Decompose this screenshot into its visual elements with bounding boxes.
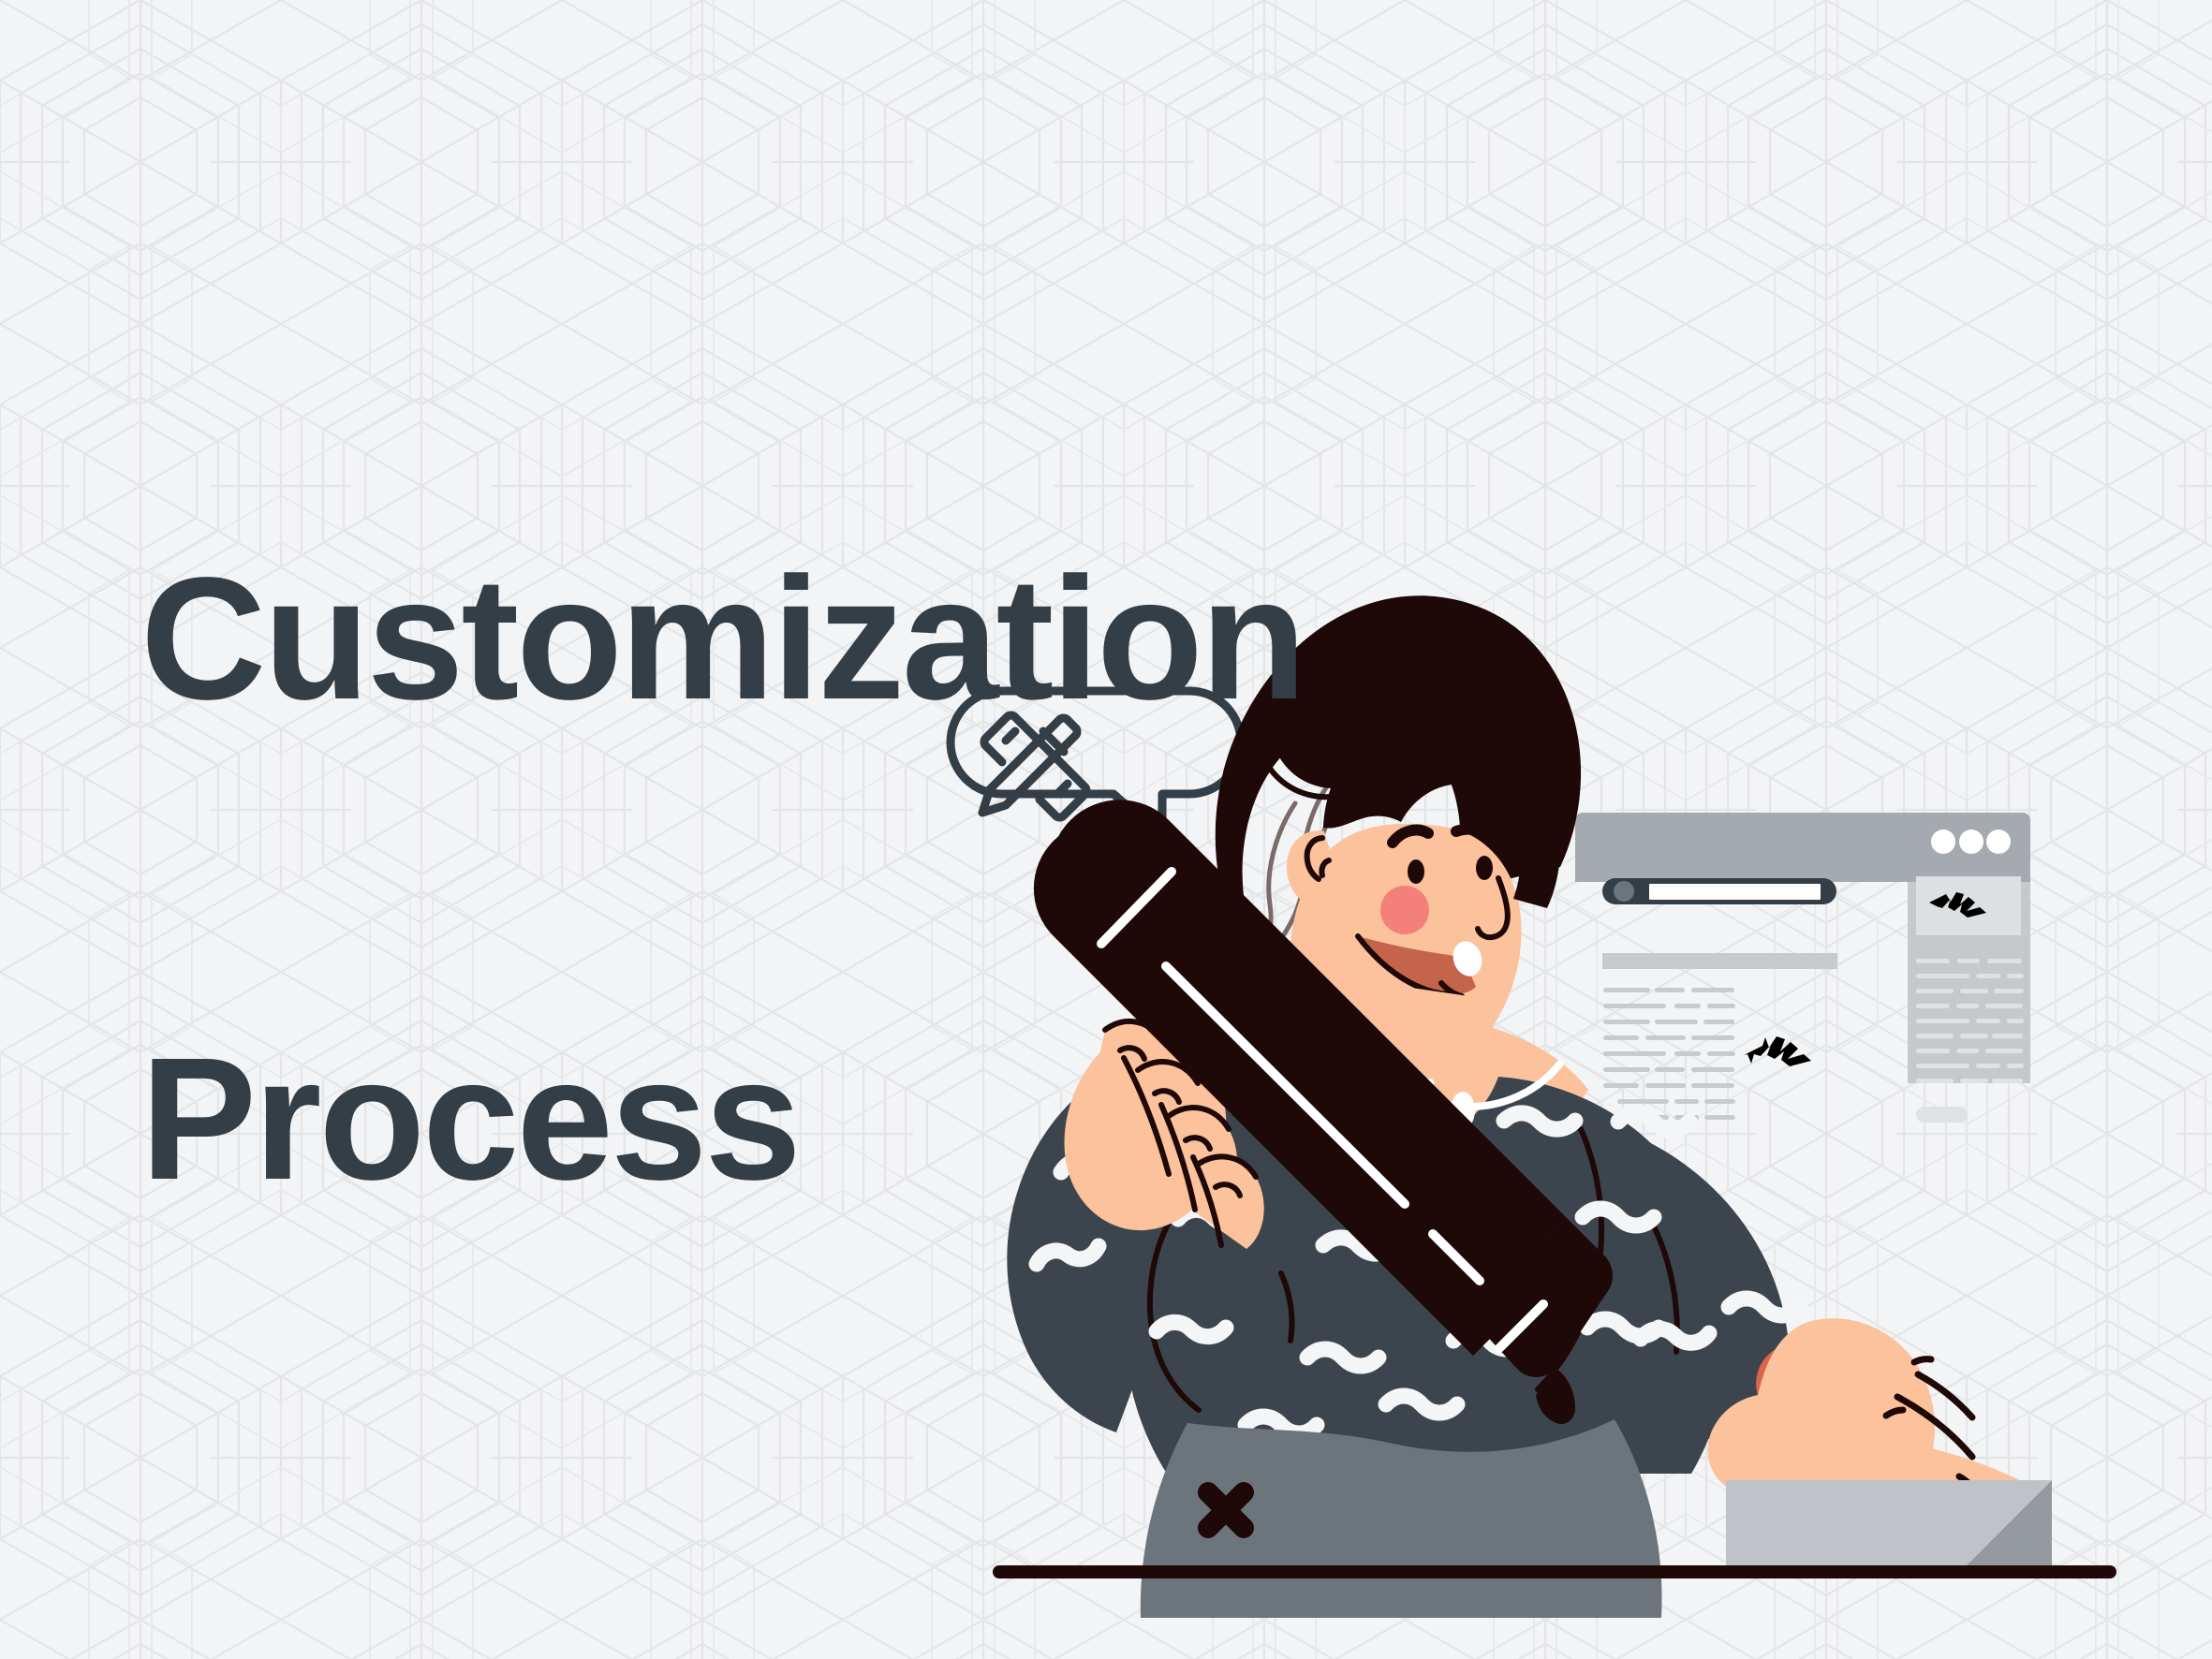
content-text-lines [1603, 988, 1735, 1120]
browser-titlebar [1575, 813, 2030, 882]
page-title: Customization Process [140, 239, 1304, 1520]
browser-mockup [1575, 813, 2030, 1123]
eye-far [1408, 859, 1424, 884]
search-knob [1614, 881, 1634, 902]
window-dot-1[interactable] [1931, 829, 1955, 854]
page-title-line-2: Process [140, 1039, 1304, 1199]
abstract-logo-mark-content [1744, 1036, 1811, 1066]
eye-near [1476, 856, 1493, 880]
desk-edge-line [993, 1565, 2116, 1578]
window-dot-2[interactable] [1959, 829, 1983, 854]
heading-placeholder-bar [1602, 953, 1837, 969]
window-dot-3[interactable] [1986, 829, 2011, 854]
sidebar-cta-button[interactable] [1916, 1107, 1968, 1123]
search-bar[interactable] [1602, 878, 1836, 904]
search-input[interactable] [1649, 884, 1821, 900]
poster-canvas: Customization Process [0, 0, 2212, 1659]
keyboard-front [1726, 1480, 1966, 1566]
keyboard-slab[interactable] [1726, 1480, 2052, 1566]
page-title-line-1: Customization [140, 559, 1304, 719]
blush [1380, 886, 1429, 934]
